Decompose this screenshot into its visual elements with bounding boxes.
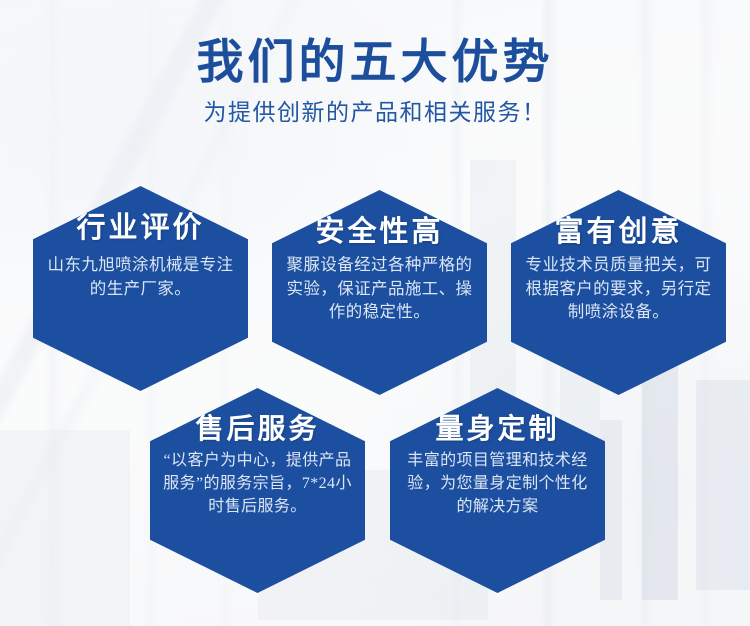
page-subtitle: 为提供创新的产品和相关服务！ bbox=[0, 99, 750, 127]
advantage-description: 聚脲设备经过各种严格的实验，保证产品施工、操作的稳定性。 bbox=[280, 253, 479, 323]
background-floor-shape bbox=[0, 430, 130, 626]
advantage-description: “以客户为中心，提供产品服务”的服务宗旨，7*24小时售后服务。 bbox=[158, 450, 357, 518]
advantage-description: 山东九旭喷涂机械是专注的生产厂家。 bbox=[41, 253, 240, 300]
advantage-description: 丰富的项目管理和技术经验，为您量身定制个性化的解决方案 bbox=[398, 450, 597, 518]
banner-heading: 我们的五大优势 为提供创新的产品和相关服务！ bbox=[0, 36, 750, 127]
promo-banner: 我们的五大优势 为提供创新的产品和相关服务！ 行业评价 山东九旭喷涂机械是专注的… bbox=[0, 0, 750, 626]
page-title: 我们的五大优势 bbox=[0, 36, 750, 91]
advantage-description: 专业技术员质量把关，可根据客户的要求，另行定制喷涂设备。 bbox=[519, 253, 718, 323]
background-pillar-shape bbox=[696, 380, 750, 590]
